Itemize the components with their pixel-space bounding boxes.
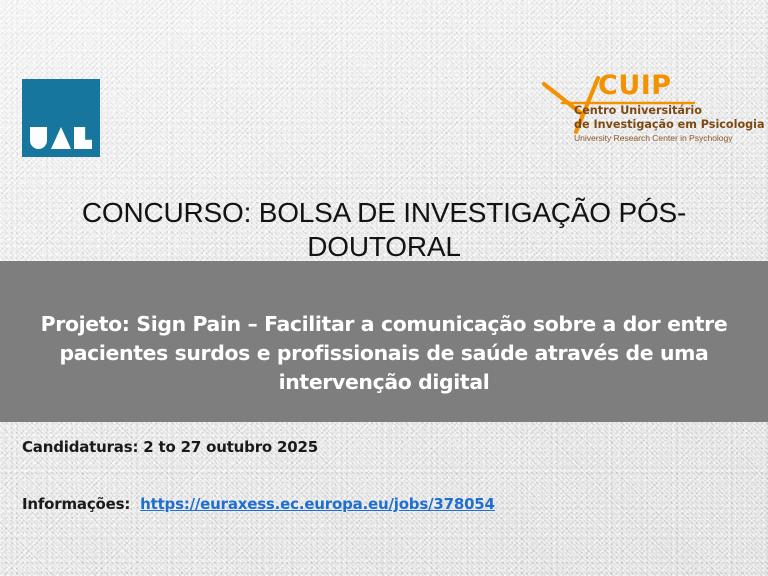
project-banner-text: Projeto: Sign Pain – Facilitar a comunic… — [6, 310, 762, 397]
poster-slide: CUIP Centro Universitário de Investigaçã… — [0, 0, 768, 576]
ual-letter-u-icon — [30, 127, 47, 149]
cuip-subtitle-line2: de Investigação em Psicologia — [574, 118, 765, 132]
information-row: Informações:https://euraxess.ec.europa.e… — [22, 495, 722, 513]
applications-row: Candidaturas: 2 to 27 outubro 2025 — [22, 438, 722, 456]
project-banner: Projeto: Sign Pain – Facilitar a comunic… — [0, 261, 768, 422]
information-label: Informações: — [22, 495, 130, 513]
info-block: Candidaturas: 2 to 27 outubro 2025 Infor… — [22, 438, 722, 513]
cuip-subtitle-line1: Centro Universitário — [574, 104, 702, 118]
page-title: CONCURSO: BOLSA DE INVESTIGAÇÃO PÓS-DOUT… — [64, 196, 704, 264]
ual-logo-letters — [30, 127, 92, 149]
ual-letter-l-icon — [74, 127, 92, 149]
euraxess-job-link[interactable]: https://euraxess.ec.europa.eu/jobs/37805… — [140, 495, 495, 513]
ual-logo — [22, 79, 100, 157]
cuip-subtitle-line3: University Research Center in Psychology — [574, 133, 732, 143]
cuip-acronym: CUIP — [598, 72, 672, 99]
ual-letter-a-icon — [51, 127, 71, 149]
cuip-logo: CUIP Centro Universitário de Investigaçã… — [536, 68, 726, 156]
